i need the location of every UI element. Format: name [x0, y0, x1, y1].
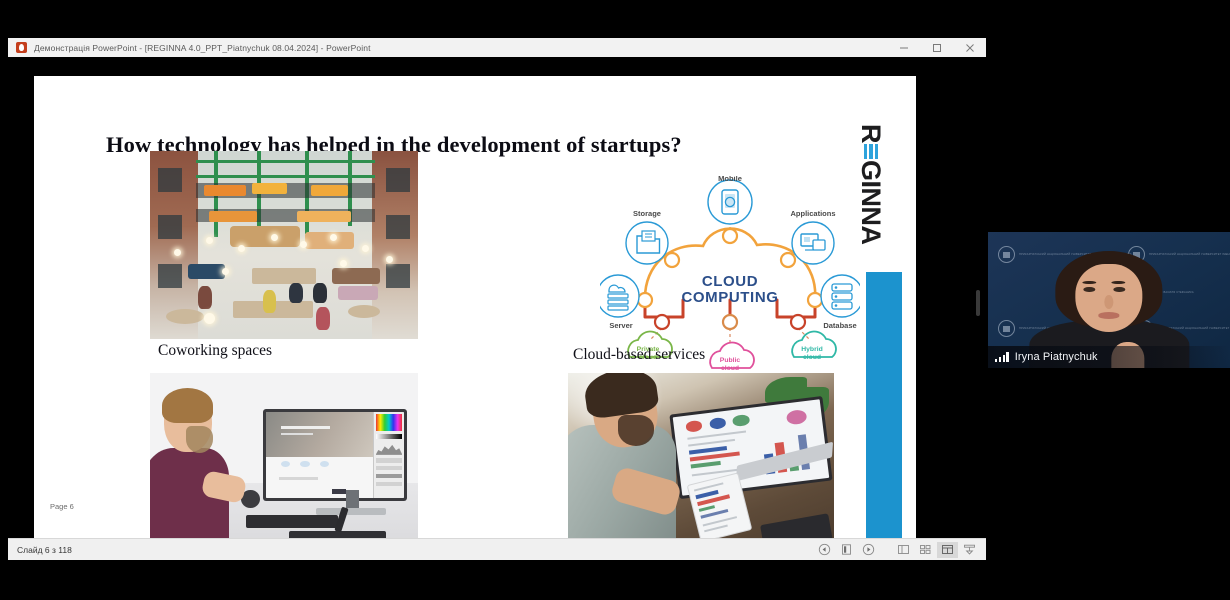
svg-text:COMPUTING: COMPUTING — [681, 289, 778, 306]
reading-view-button[interactable] — [937, 542, 958, 558]
svg-text:cloud: cloud — [721, 365, 739, 372]
svg-text:Database: Database — [823, 321, 856, 330]
caption-cloud-services: Cloud-based services — [573, 346, 705, 364]
logo-word: GINNA — [856, 160, 887, 245]
svg-text:Mobile: Mobile — [718, 176, 742, 183]
svg-text:Public: Public — [720, 357, 741, 364]
status-bar-buttons — [814, 539, 980, 560]
svg-text:cloud: cloud — [803, 354, 821, 361]
participant-video-tile[interactable]: ПРИКАРПАТСЬКИЙ НАЦІОНАЛЬНИЙ УНІВЕРСИТЕТ … — [988, 232, 1230, 368]
slide-canvas: How technology has helped in the develop… — [34, 76, 916, 539]
slideshow-stage[interactable]: How technology has helped in the develop… — [8, 57, 986, 539]
svg-text:CLOUD: CLOUD — [702, 273, 758, 290]
svg-text:Hybrid: Hybrid — [801, 346, 823, 353]
logo-letter-r: R — [856, 124, 887, 143]
accent-bar — [866, 272, 902, 539]
screen: Демонстрація PowerPoint - [REGINNA 4.0_P… — [0, 0, 1230, 600]
window-title: Демонстрація PowerPoint - [REGINNA 4.0_P… — [34, 43, 371, 53]
previous-slide-button[interactable] — [814, 542, 835, 558]
cloud-computing-diagram: CLOUD COMPUTING Mobile — [600, 176, 860, 374]
close-button[interactable] — [953, 38, 986, 57]
university-seal-icon — [998, 246, 1015, 263]
normal-view-button[interactable] — [893, 542, 914, 558]
title-bar: Демонстрація PowerPoint - [REGINNA 4.0_P… — [8, 38, 986, 58]
participant-name-bar: Iryna Piatnychuk — [988, 346, 1230, 368]
slideshow-button[interactable] — [959, 542, 980, 558]
signal-strength-icon — [995, 352, 1009, 362]
coworking-photo — [150, 151, 418, 339]
slide-counter: Слайд 6 з 118 — [17, 545, 72, 555]
web-design-photo — [150, 373, 418, 539]
slide-sorter-button[interactable] — [915, 542, 936, 558]
powerpoint-icon — [16, 42, 27, 53]
panel-resize-handle[interactable] — [976, 290, 980, 316]
university-seal-icon — [998, 320, 1015, 337]
svg-text:Server: Server — [609, 321, 632, 330]
next-slide-button[interactable] — [858, 542, 879, 558]
powerpoint-window: Демонстрація PowerPoint - [REGINNA 4.0_P… — [8, 38, 986, 560]
svg-text:Applications: Applications — [790, 209, 835, 218]
window-controls — [887, 38, 986, 57]
minimize-button[interactable] — [887, 38, 920, 57]
participant-name: Iryna Piatnychuk — [1015, 351, 1098, 363]
online-marketing-photo — [568, 373, 834, 539]
restore-button[interactable] — [920, 38, 953, 57]
pen-tools-button[interactable] — [836, 542, 857, 558]
page-number: Page 6 — [50, 502, 74, 511]
caption-coworking: Coworking spaces — [158, 342, 272, 360]
status-bar: Слайд 6 з 118 — [8, 538, 986, 560]
svg-text:Storage: Storage — [633, 209, 661, 218]
logo-e-bars-icon — [862, 144, 881, 159]
